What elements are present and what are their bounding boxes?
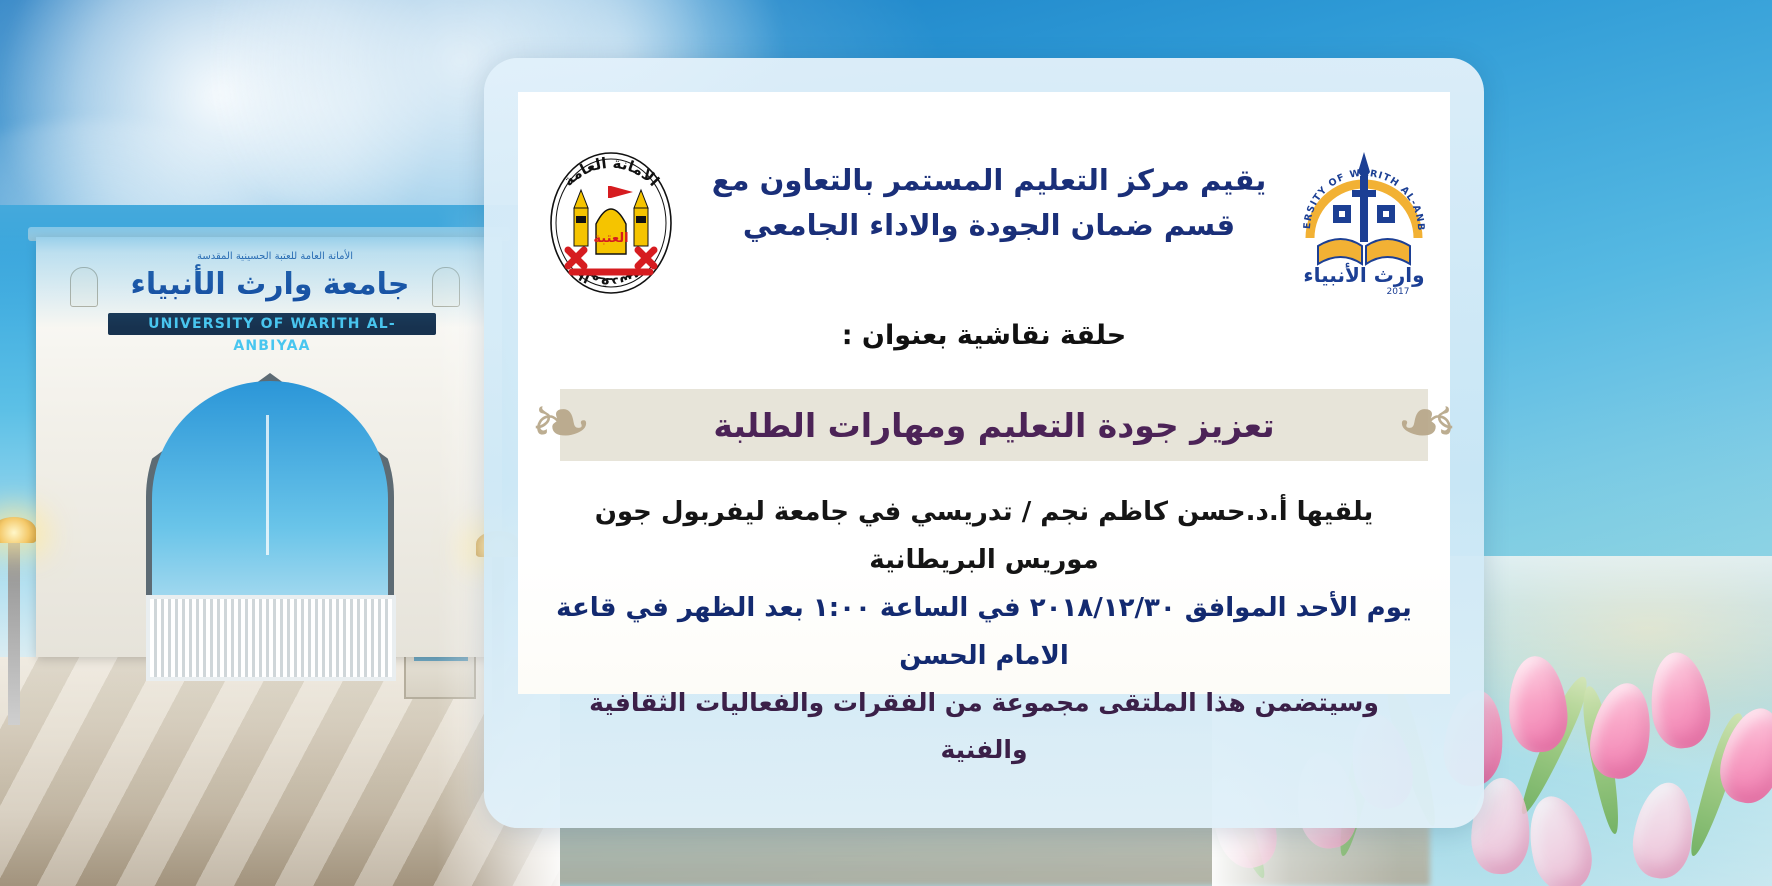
svg-text:2017: 2017 [1387,287,1410,296]
street-lamp-icon [8,535,20,725]
body-text-block: يلقيها أ.د.حسن كاظم نجم / تدريسي في جامع… [544,488,1424,773]
title-banner: ❧ تعزيز جودة التعليم ومهارات الطلبة ❧ [560,389,1428,461]
holy-shrine-logo: الامانة العامة المقدسة [538,150,684,296]
university-gate-photo: الأمانة العامة للعتبة الحسينية المقدسة ج… [0,205,560,886]
svg-text:الامانة العامة: الامانة العامة [559,154,663,190]
ornament-right-icon: ❧ [1404,375,1458,471]
gate-door [146,595,396,681]
program-note-line: وسيتضمن هذا الملتقى مجموعة من الفقرات وا… [544,680,1424,773]
poster-root: الأمانة العامة للعتبة الحسينية المقدسة ج… [0,0,1772,886]
header-text-block: يقيم مركز التعليم المستمر بالتعاون مع قس… [698,158,1280,248]
gate-photo-ground [0,657,560,886]
header-line-1: يقيم مركز التعليم المستمر بالتعاون مع [698,158,1280,203]
gate-sign-arabic: جامعة وارث الأنبياء [90,267,450,302]
header-line-2: قسم ضمان الجودة والاداء الجامعي [698,203,1280,248]
speaker-line: يلقيها أ.د.حسن كاظم نجم / تدريسي في جامع… [544,488,1424,584]
subtitle-text: حلقة نقاشية بعنوان : [518,320,1450,351]
gate-sign-english: UNIVERSITY OF WARITH AL- ANBIYAA [108,313,436,335]
announcement-card: الامانة العامة المقدسة [518,92,1450,694]
card-header: الامانة العامة المقدسة [518,144,1450,292]
gate-sign-arabic-small: الأمانة العامة للعتبة الحسينية المقدسة [140,251,410,262]
svg-text:وارث الأنبياء: وارث الأنبياء [1303,262,1424,287]
gate-antenna-mast [266,415,269,555]
seminar-title: تعزيز جودة التعليم ومهارات الطلبة [713,406,1274,445]
ornament-left-icon: ❧ [530,375,584,471]
svg-text:العتبة: العتبة [593,231,628,246]
university-logo: UNIVERSITY OF WARITH AL-ANBIYAA [1296,146,1432,296]
datetime-venue-line: يوم الأحد الموافق ٢٠١٨/١٢/٣٠ في الساعة ١… [544,584,1424,680]
